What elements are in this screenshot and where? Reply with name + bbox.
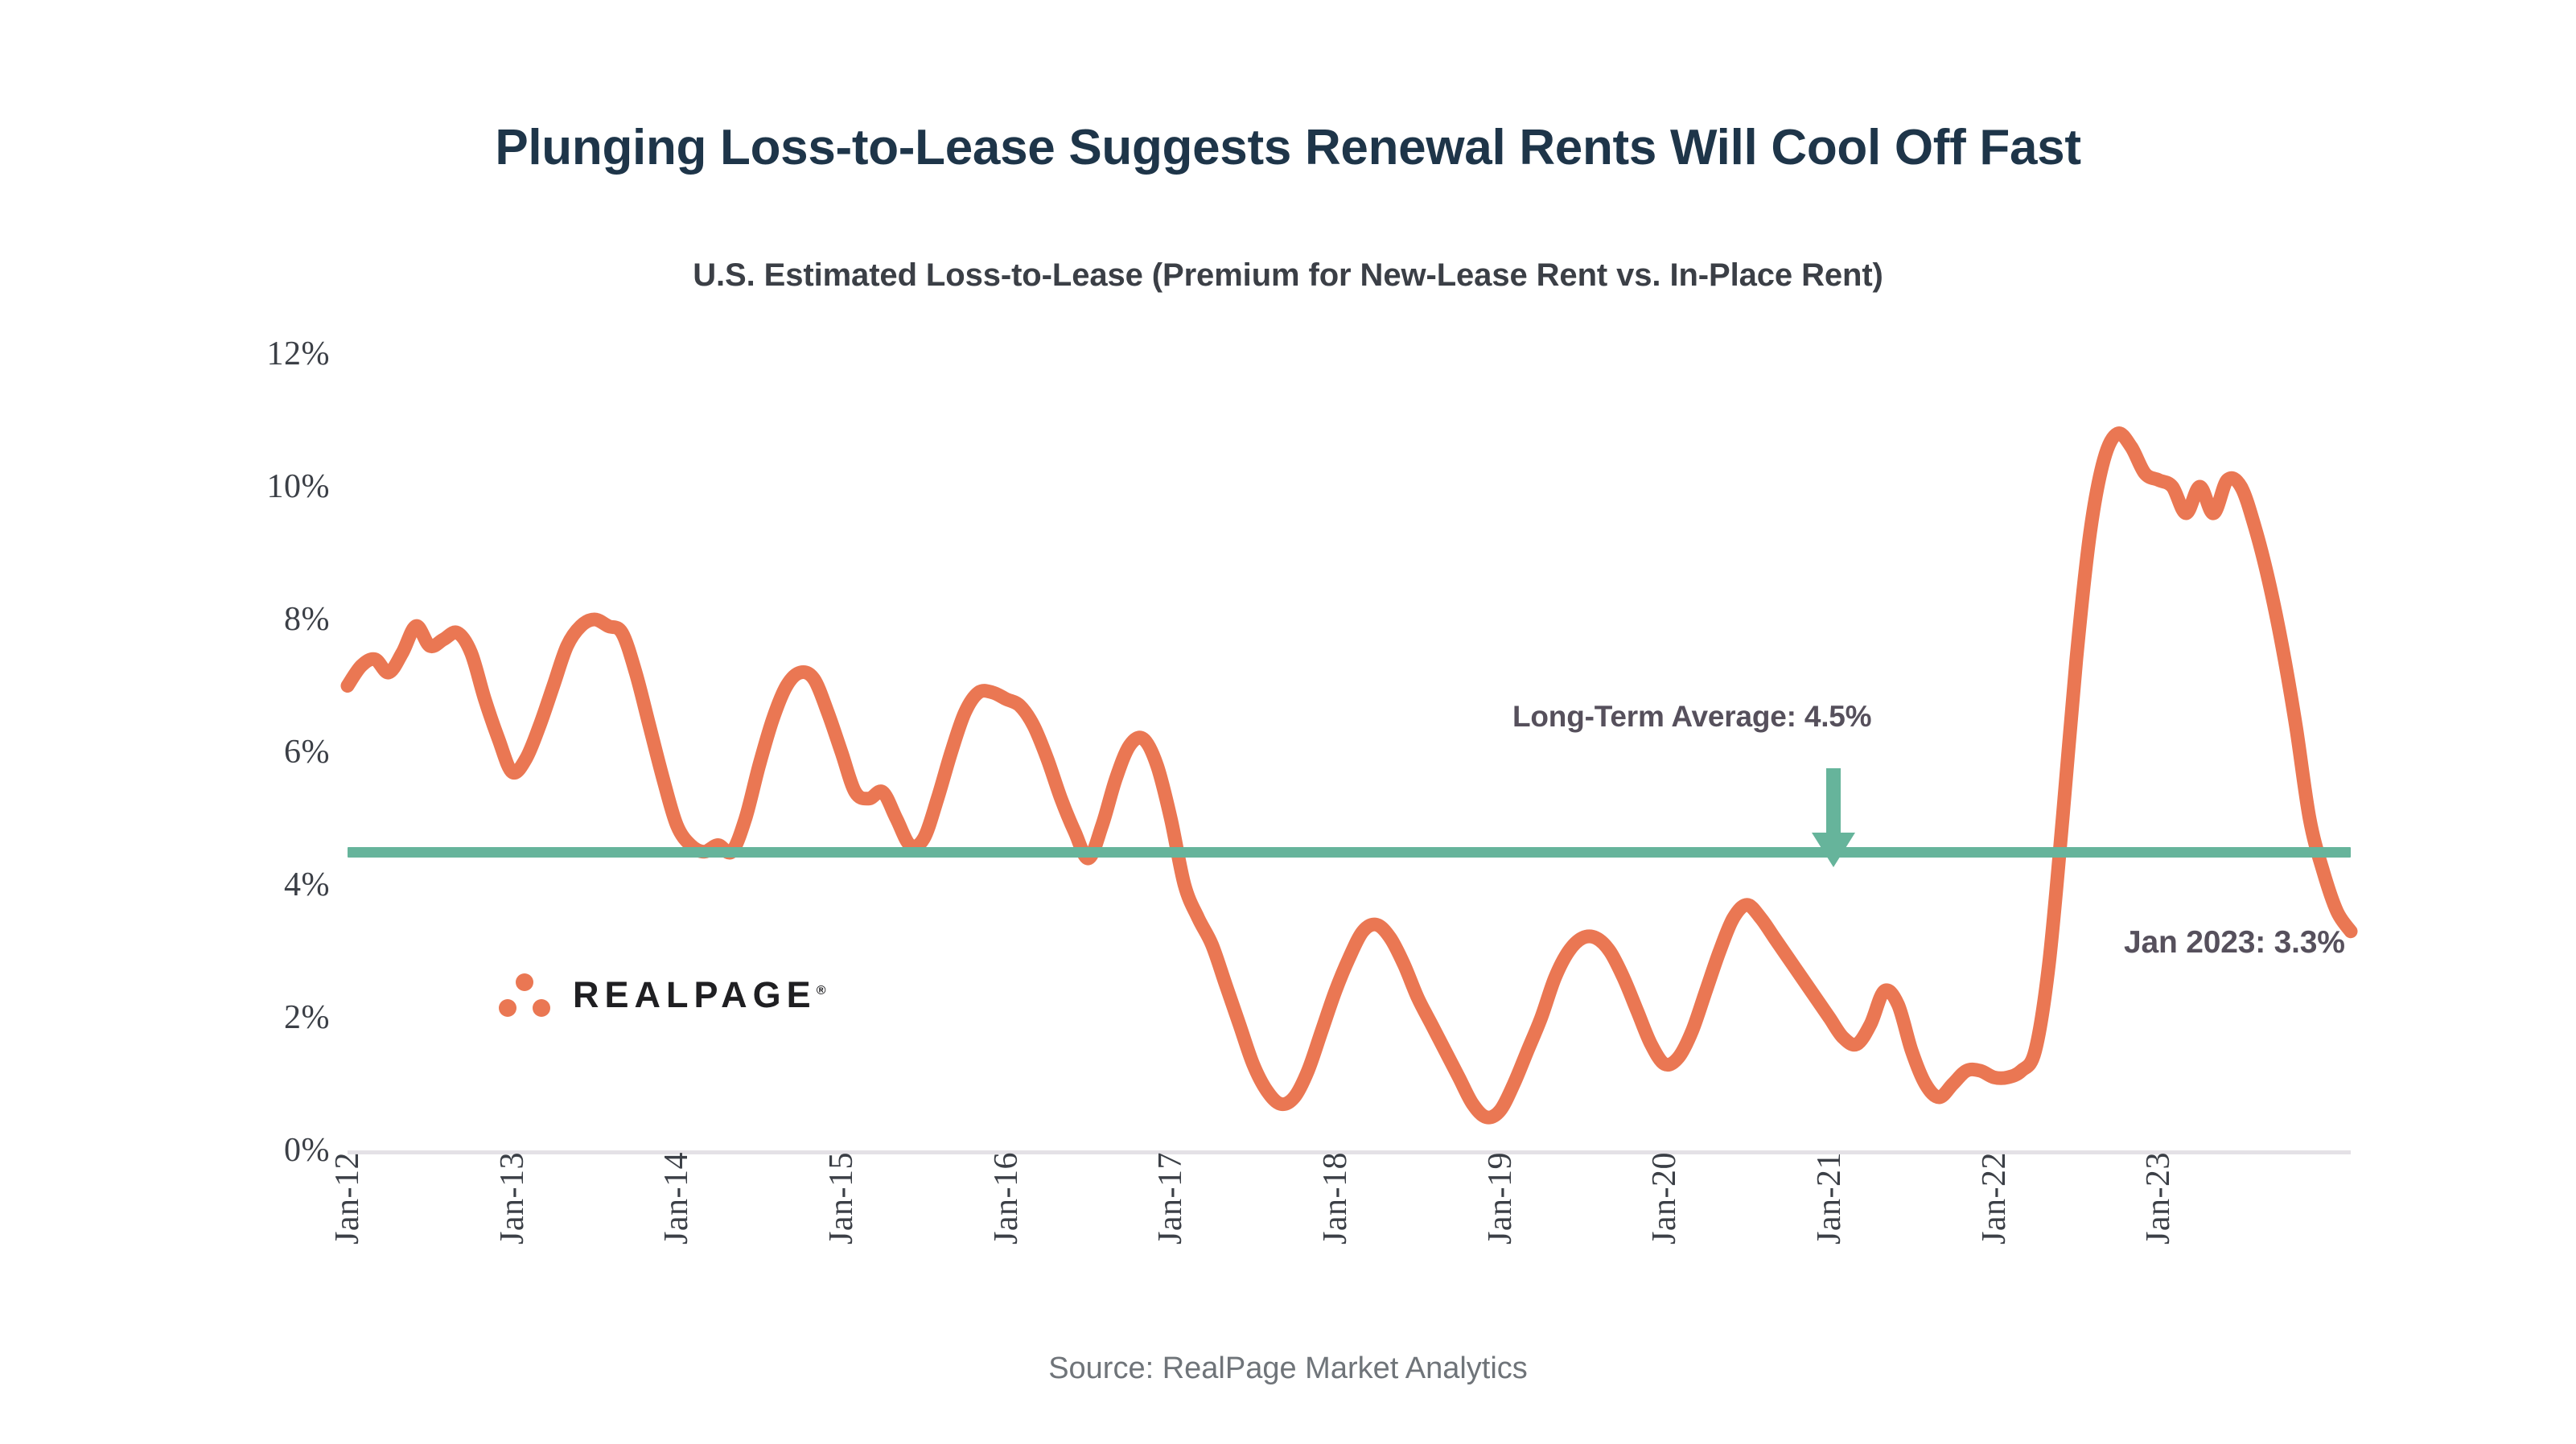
chart-page: Plunging Loss-to-Lease Suggests Renewal … — [0, 0, 2576, 1444]
y-axis-tick-label: 6% — [284, 733, 330, 771]
series-line-chart — [348, 354, 2351, 1150]
x-axis-tick-label: Jan-13 — [493, 1152, 532, 1244]
source-note: Source: RealPage Market Analytics — [0, 1351, 2576, 1386]
plot-area — [348, 354, 2351, 1150]
realpage-wordmark-text: REALPAGE — [573, 974, 817, 1015]
y-axis-tick-label: 2% — [284, 998, 330, 1037]
x-axis-tick-label: Jan-12 — [328, 1152, 367, 1244]
last-point-label: Jan 2023: 3.3% — [2124, 925, 2345, 961]
x-axis-tick-label: Jan-20 — [1645, 1152, 1684, 1244]
registered-trademark-icon: ® — [817, 984, 826, 998]
x-axis-tick-label: Jan-19 — [1481, 1152, 1520, 1244]
realpage-dots-icon — [499, 973, 552, 1017]
realpage-wordmark: REALPAGE® — [573, 974, 825, 1016]
y-axis: 12%10%8%6%4%2%0% — [201, 354, 330, 1150]
realpage-logo: REALPAGE® — [499, 973, 825, 1017]
x-axis-tick-label: Jan-22 — [1975, 1152, 2014, 1244]
y-axis-tick-label: 10% — [267, 467, 331, 506]
x-axis-tick-label: Jan-17 — [1151, 1152, 1190, 1244]
x-axis-tick-label: Jan-21 — [1810, 1152, 1849, 1244]
page-title: Plunging Loss-to-Lease Suggests Renewal … — [0, 119, 2576, 176]
x-axis: Jan-12Jan-13Jan-14Jan-15Jan-16Jan-17Jan-… — [348, 1152, 2351, 1329]
down-arrow-icon — [1810, 768, 1857, 873]
y-axis-tick-label: 0% — [284, 1131, 330, 1170]
long-term-average-reference-line — [348, 847, 2351, 858]
x-axis-tick-label: Jan-23 — [2139, 1152, 2178, 1244]
chart-subtitle: U.S. Estimated Loss-to-Lease (Premium fo… — [0, 257, 2576, 294]
long-term-average-label: Long-Term Average: 4.5% — [1512, 700, 1871, 734]
x-axis-tick-label: Jan-16 — [987, 1152, 1026, 1244]
x-axis-tick-label: Jan-15 — [822, 1152, 861, 1244]
x-axis-tick-label: Jan-14 — [657, 1152, 696, 1244]
y-axis-tick-label: 8% — [284, 600, 330, 639]
x-axis-tick-label: Jan-18 — [1316, 1152, 1355, 1244]
y-axis-tick-label: 4% — [284, 866, 330, 904]
y-axis-tick-label: 12% — [267, 335, 331, 373]
